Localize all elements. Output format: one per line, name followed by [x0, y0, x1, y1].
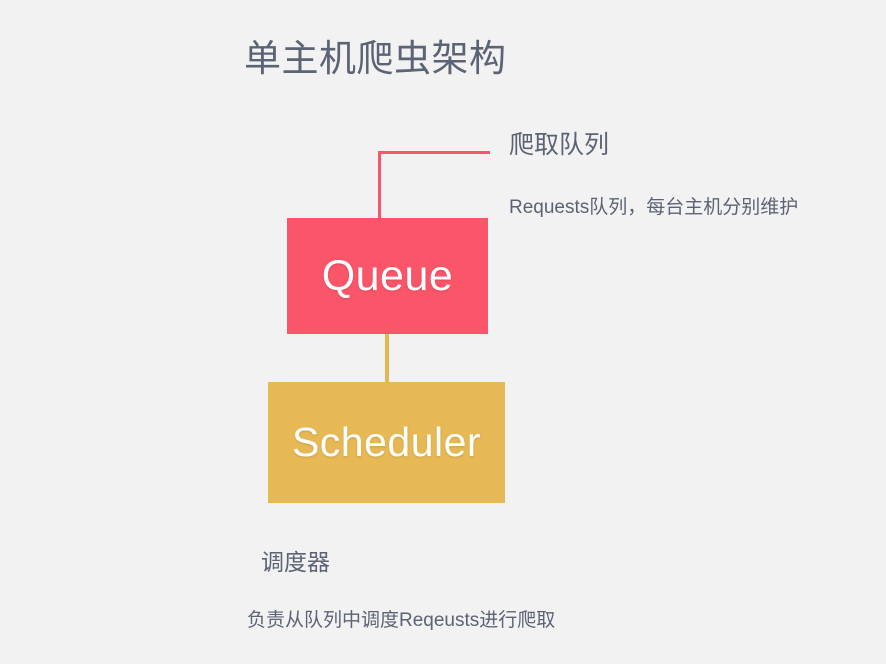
diagram-node-queue[interactable]: Queue — [287, 218, 488, 334]
slide-canvas: 单主机爬虫架构 Queue Scheduler 爬取队列 Requests队列，… — [0, 0, 886, 664]
diagram-node-scheduler[interactable]: Scheduler — [268, 382, 505, 503]
connector-queue-callout-vertical — [378, 151, 381, 219]
annotation-scheduler-heading: 调度器 — [261, 545, 330, 579]
annotation-scheduler-body: 负责从队列中调度Reqeusts进行爬取 — [247, 607, 555, 635]
page-title: 单主机爬虫架构 — [244, 34, 507, 84]
diagram-node-scheduler-label: Scheduler — [292, 419, 481, 466]
connector-queue-to-scheduler — [385, 333, 389, 383]
annotation-queue-heading: 爬取队列 — [509, 128, 609, 162]
diagram-node-queue-label: Queue — [322, 252, 454, 301]
annotation-queue-body: Requests队列，每台主机分别维护 — [509, 194, 798, 222]
connector-queue-callout-horizontal — [378, 151, 490, 154]
